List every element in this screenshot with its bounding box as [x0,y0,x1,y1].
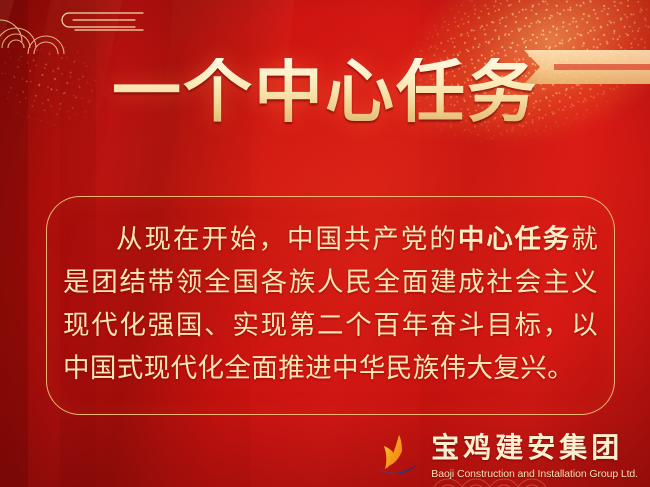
logo-name-en: Baoji Construction and Installation Grou… [431,469,638,480]
quote-lead: 从现在开始，中国共产党的 [116,224,458,254]
poster-canvas: 一个中心任务 从现在开始，中国共产党的中心任务就是团结带领全国各族人民全面建成社… [0,0,650,487]
quote-emphasis: 中心任务 [458,224,571,254]
company-logo[interactable]: 宝鸡建安集团 Baoji Construction and Installati… [375,433,638,481]
sail-boat-logo-icon [375,433,421,481]
poster-title-text: 一个中心任务 [112,58,538,127]
logo-text-block: 宝鸡建安集团 Baoji Construction and Installati… [431,435,638,480]
poster-title: 一个中心任务 [0,58,650,127]
logo-name-cn: 宝鸡建安集团 [431,435,638,463]
quote-box: 从现在开始，中国共产党的中心任务就是团结带领全国各族人民全面建成社会主义现代化强… [46,196,615,415]
quote-text: 从现在开始，中国共产党的中心任务就是团结带领全国各族人民全面建成社会主义现代化强… [63,218,598,390]
